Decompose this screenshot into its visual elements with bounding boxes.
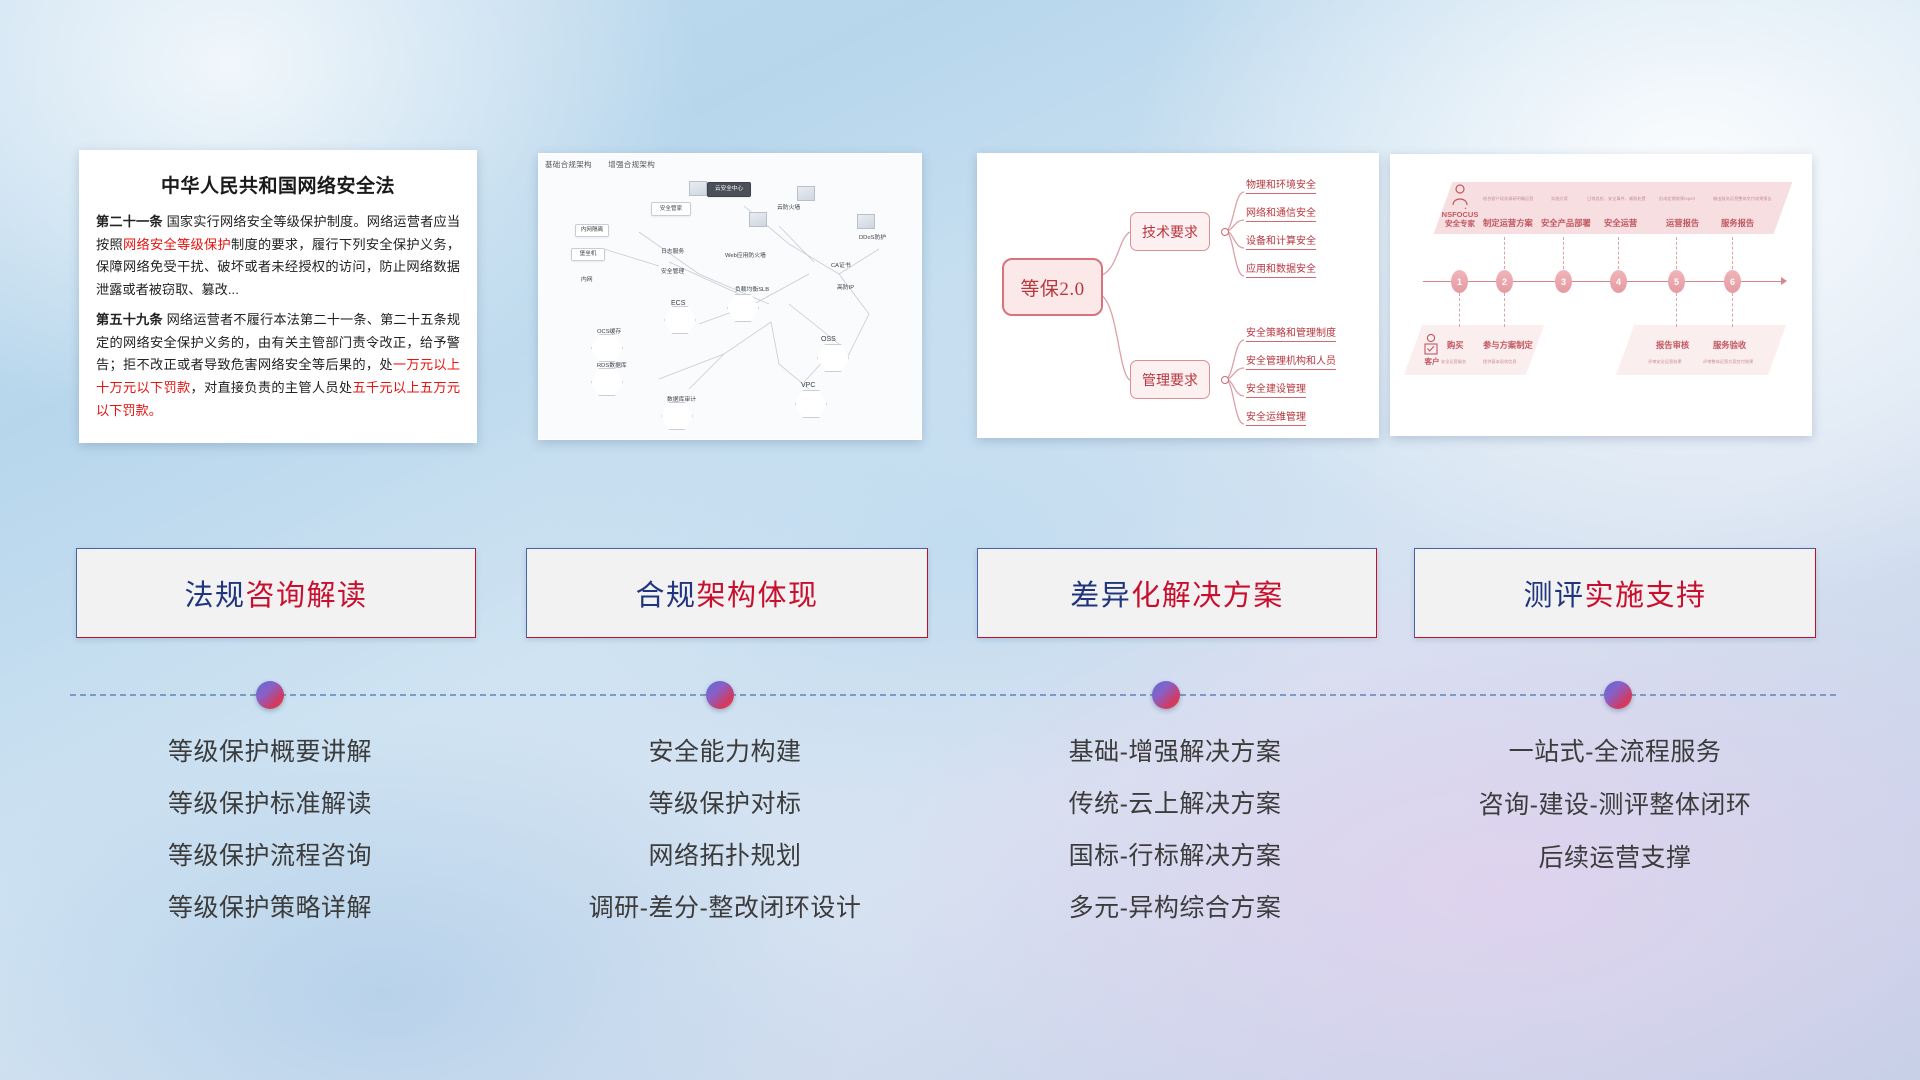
expert-person-icon [1449, 183, 1471, 209]
label-text-1: 法规咨询解读 [184, 572, 367, 614]
process-sub-2: 结合客户现状调研明确运营 [1483, 196, 1533, 202]
service-item: 调研-差分-整改闭环设计 [520, 896, 930, 921]
expert-role-label: NSFOCUS安全专家 [1431, 211, 1489, 228]
leader-line-b1 [1459, 293, 1460, 327]
leader-line-b2 [1504, 293, 1505, 327]
mindmap-branch-technical: 技术要求 [1130, 212, 1210, 251]
service-process-diagram: NSFOCUS安全专家 客户 1 2 3 4 5 6 [1391, 155, 1811, 435]
timeline-dot-2[interactable] [706, 681, 734, 709]
mindmap-leaf-app-data: 应用和数据安全 [1246, 260, 1316, 278]
label-text-2: 合规架构体现 [635, 572, 818, 614]
arch-label-ocs-cache: OCS缓存 [597, 326, 621, 335]
arch-cube-icon-b [797, 186, 815, 201]
leader-line-3 [1563, 237, 1564, 269]
arch-label-waf: Web应用防火墙 [725, 250, 766, 259]
arch-node-intranet-isolation: 内网隔离 [575, 224, 609, 237]
service-column-4: 一站式-全流程服务 咨询-建设-测评整体闭环 后续运营支撑 [1405, 740, 1825, 899]
arch-node-bastion-host: 堡垒机 [571, 248, 605, 261]
arch-label-vpc: VPC [801, 382, 815, 389]
arch-label-slb: 负载均衡SLB [735, 284, 769, 293]
mindmap-leaf-device-compute: 设备和计算安全 [1246, 232, 1316, 250]
label-text-3: 差异化解决方案 [1070, 572, 1284, 614]
arch-cube-icon-a [689, 181, 707, 196]
mindmap-collapse-dot-management[interactable] [1221, 376, 1229, 384]
label-4-blue: 测评 [1523, 580, 1584, 612]
service-item: 基础-增强解决方案 [965, 740, 1385, 765]
service-column-2: 安全能力构建 等级保护对标 网络拓扑规划 调研-差分-整改闭环设计 [520, 740, 930, 948]
process-node-5[interactable]: 5 [1668, 270, 1685, 293]
arch-label-log-service: 日志服务 [661, 246, 684, 255]
article-59-text-b: ，对直接负责的主管人员处 [190, 380, 352, 395]
label-box-row: 法规咨询解读 合规架构体现 差异化解决方案 测评实施支持 [0, 548, 1920, 643]
process-axis-arrow-icon [1781, 277, 1787, 285]
arch-cube-icon-d [749, 212, 767, 227]
service-item: 传统-云上解决方案 [965, 792, 1385, 817]
card-row: 中华人民共和国网络安全法 第二十一条 国家实行网络安全等级保护制度。网络运营者应… [0, 150, 1920, 445]
timeline-dot-3[interactable] [1152, 681, 1180, 709]
customer-person-icon [1421, 333, 1441, 357]
service-item: 咨询-建设-测评整体闭环 [1405, 793, 1825, 818]
process-bottom-sub-4: 评审整体运营方案交付效果 [1703, 359, 1753, 365]
arch-label-intranet: 内网 [581, 274, 593, 283]
arch-label-db-audit: 数据库审计 [667, 394, 696, 403]
service-item: 国标-行标解决方案 [965, 844, 1385, 869]
mindmap-leaf-operation-mgmt: 安全运维管理 [1246, 408, 1306, 426]
leader-line-4 [1618, 237, 1619, 269]
service-item: 等级保护策略详解 [70, 896, 470, 921]
leader-line-5 [1676, 237, 1677, 269]
mindmap-leaf-policy-system: 安全策略和管理制度 [1246, 324, 1336, 342]
process-sub-3: 实施方案 [1551, 196, 1568, 202]
mindmap-diagram: 等保2.0 技术要求 物理和环境安全 网络和通信安全 设备和计算安全 应用和数据… [978, 154, 1378, 437]
process-bottom-label-2: 参与方案制定 [1483, 339, 1533, 351]
process-node-3[interactable]: 3 [1555, 270, 1572, 293]
label-2-red: 架构体现 [697, 580, 819, 612]
process-bottom-label-3: 报告审核 [1656, 339, 1689, 351]
label-box-compliance-architecture[interactable]: 合规架构体现 [526, 548, 928, 638]
article-21-highlight: 网络安全等级保护 [123, 237, 231, 252]
service-item: 多元-异构综合方案 [965, 896, 1385, 921]
arch-node-security-steward: 安全管家 [651, 202, 691, 216]
article-21-label: 第二十一条 [96, 214, 163, 229]
label-box-differentiated-solution[interactable]: 差异化解决方案 [977, 548, 1377, 638]
service-columns: 等级保护概要讲解 等级保护标准解读 等级保护流程咨询 等级保护策略详解 安全能力… [0, 740, 1920, 970]
label-3-blue: 差异 [1070, 580, 1131, 612]
service-item: 等级保护标准解读 [70, 792, 470, 817]
card-mindmap[interactable]: 等保2.0 技术要求 物理和环境安全 网络和通信安全 设备和计算安全 应用和数据… [977, 153, 1379, 438]
leader-line-2 [1504, 237, 1505, 269]
arch-label-ddos: DDoS防护 [859, 232, 886, 241]
article-59-label: 第五十九条 [96, 312, 163, 327]
architecture-diagram: 基础合规架构 增强合规架构 [539, 154, 921, 439]
process-label-4: 安全运营 [1604, 217, 1637, 229]
arch-label-security-mgmt: 安全管理 [661, 266, 684, 275]
service-item: 网络拓扑规划 [520, 844, 930, 869]
arch-label-ca-cert: CA证书 [831, 260, 851, 269]
process-bottom-sub-3: 评审安全运营效果 [1648, 359, 1682, 365]
card-service-process[interactable]: NSFOCUS安全专家 客户 1 2 3 4 5 6 [1390, 154, 1812, 436]
law-article-59: 第五十九条 网络运营者不履行本法第二十一条、第二十五条规定的网络安全保护义务的，… [96, 309, 460, 423]
customer-band-right [1616, 325, 1786, 375]
mindmap-leaf-physical-env: 物理和环境安全 [1246, 176, 1316, 194]
process-sub-6: 输出服务运营整体交付成果报告 [1713, 196, 1772, 202]
label-1-red: 咨询解读 [246, 580, 368, 612]
mindmap-collapse-dot-technical[interactable] [1221, 228, 1229, 236]
service-item: 后续运营支撑 [1405, 846, 1825, 871]
service-item: 等级保护对标 [520, 792, 930, 817]
service-item: 一站式-全流程服务 [1405, 740, 1825, 765]
service-item: 等级保护流程咨询 [70, 844, 470, 869]
process-label-6: 服务报告 [1721, 217, 1754, 229]
process-bottom-label-4: 服务验收 [1713, 339, 1746, 351]
arch-label-anti-ddos-ip: 高防IP [837, 282, 854, 291]
leader-line-6 [1732, 237, 1733, 269]
leader-line-b4 [1732, 293, 1733, 327]
label-box-regulation-consulting[interactable]: 法规咨询解读 [76, 548, 476, 638]
timeline-dot-1[interactable] [256, 681, 284, 709]
process-bottom-label-1: 购买 [1447, 339, 1464, 351]
card-law-document[interactable]: 中华人民共和国网络安全法 第二十一条 国家实行网络安全等级保护制度。网络运营者应… [79, 150, 477, 443]
process-sub-4: 日常巡检、安全事件、威胁处置 [1587, 196, 1646, 202]
label-1-blue: 法规 [184, 580, 245, 612]
law-title: 中华人民共和国网络安全法 [96, 171, 460, 198]
service-item: 安全能力构建 [520, 740, 930, 765]
process-bottom-sub-1: 安全运营服务 [1441, 359, 1466, 365]
label-3-red: 化解决方案 [1131, 580, 1284, 612]
mindmap-leaf-org-personnel: 安全管理机构和人员 [1246, 352, 1336, 370]
process-sub-5: 形成定期效果report [1659, 196, 1695, 202]
law-document-body: 中华人民共和国网络安全法 第二十一条 国家实行网络安全等级保护制度。网络运营者应… [80, 151, 476, 442]
process-node-6[interactable]: 6 [1724, 270, 1741, 293]
process-node-1[interactable]: 1 [1451, 270, 1468, 293]
mindmap-leaf-network-comm: 网络和通信安全 [1246, 204, 1316, 222]
process-label-2: 制定运营方案 [1483, 217, 1533, 229]
process-node-2[interactable]: 2 [1496, 270, 1513, 293]
label-4-red: 实施支持 [1585, 580, 1707, 612]
leader-line-b3 [1676, 293, 1677, 327]
mindmap-root: 等保2.0 [1002, 258, 1103, 316]
card-cloud-architecture[interactable]: 基础合规架构 增强合规架构 [538, 153, 922, 440]
label-2-blue: 合规 [635, 580, 696, 612]
process-label-3: 安全产品部署 [1541, 217, 1591, 229]
arch-node-cloud-security-center: 云安全中心 [707, 182, 751, 197]
arch-label-ecs: ECS [671, 300, 685, 307]
arch-label-oss: OSS [821, 336, 836, 343]
service-column-3: 基础-增强解决方案 传统-云上解决方案 国标-行标解决方案 多元-异构综合方案 [965, 740, 1385, 948]
label-text-4: 测评实施支持 [1523, 572, 1706, 614]
process-bottom-sub-2: 提供基本现状信息 [1483, 359, 1517, 365]
slide-canvas: 中华人民共和国网络安全法 第二十一条 国家实行网络安全等级保护制度。网络运营者应… [0, 0, 1920, 1080]
arch-label-cloud-firewall: 云防火墙 [777, 202, 800, 211]
arch-cube-icon-c [857, 214, 875, 229]
timeline-dashed-line [70, 694, 1836, 698]
timeline-dot-4[interactable] [1604, 681, 1632, 709]
label-box-assessment-support[interactable]: 测评实施支持 [1414, 548, 1816, 638]
process-label-5: 运营报告 [1666, 217, 1699, 229]
service-item: 等级保护概要讲解 [70, 740, 470, 765]
service-column-1: 等级保护概要讲解 等级保护标准解读 等级保护流程咨询 等级保护策略详解 [70, 740, 470, 948]
law-article-21: 第二十一条 国家实行网络安全等级保护制度。网络运营者应当按照网络安全等级保护制度… [96, 211, 460, 302]
process-node-4[interactable]: 4 [1610, 270, 1627, 293]
mindmap-leaf-construction-mgmt: 安全建设管理 [1246, 380, 1306, 398]
mindmap-branch-management: 管理要求 [1130, 360, 1210, 399]
